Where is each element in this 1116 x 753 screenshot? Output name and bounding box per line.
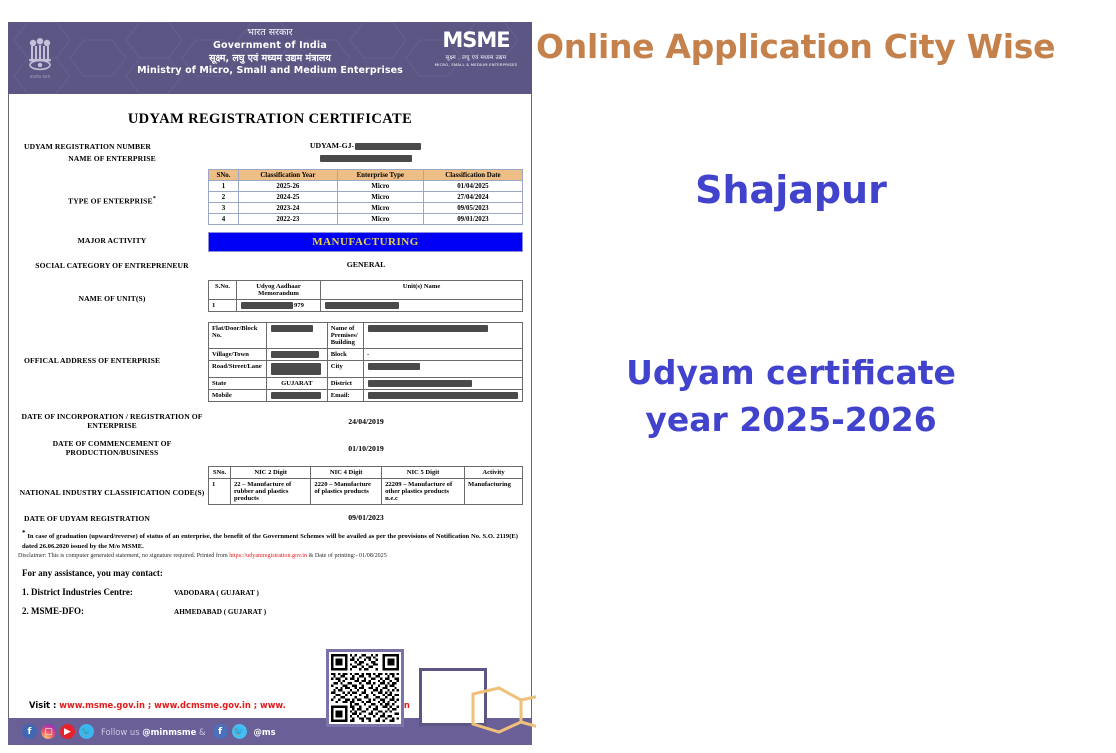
contact-dic: 1. District Industries Centre: VADODARA … — [16, 578, 524, 597]
cell-sno: 3 — [209, 203, 239, 214]
graduation-note: * In case of graduation (upward/reverse)… — [16, 525, 524, 551]
contact-value: AHMEDABAD ( GUJARAT ) — [174, 606, 266, 616]
cell-value — [266, 390, 327, 402]
msme-logo-english: MICRO, SMALL & MEDIUM ENTERPRISES — [428, 62, 524, 67]
udyam-number-label: UDYAM REGISTRATION NUMBER — [16, 141, 208, 151]
certificate-body: UDYAM REGISTRATION CERTIFICATE UDYAM REG… — [8, 94, 532, 745]
field-major-activity: MAJOR ACTIVITY MANUFACTURING — [16, 232, 524, 252]
th-nic2: NIC 2 Digit — [231, 467, 311, 479]
table-header-row: S.No. Udyog Aadhaar Memorandum Unit(s) N… — [209, 281, 523, 300]
instagram-icon[interactable]: ▢ — [41, 724, 56, 739]
cell-type: Micro — [337, 181, 423, 192]
date-incorporation-label: DATE OF INCORPORATION / REGISTRATION OF … — [16, 411, 208, 430]
field-social-category: SOCIAL CATEGORY OF ENTREPRENEUR GENERAL — [16, 260, 524, 270]
field-official-address: OFFICAL ADDRESS OF ENTERPRISE Flat/Door/… — [16, 322, 524, 402]
th-sno: S.No. — [209, 281, 237, 300]
cell-key: Road/Street/Lane — [209, 361, 267, 378]
cell-year: 2022-23 — [239, 214, 338, 225]
udyam-number-value: UDYAM-GJ- — [208, 141, 524, 150]
nic-table: SNo. NIC 2 Digit NIC 4 Digit NIC 5 Digit… — [208, 466, 523, 505]
table-row: Village/Town Block - — [209, 349, 523, 361]
date-incorporation-value: 24/04/2019 — [208, 411, 524, 426]
field-enterprise-name: NAME OF ENTERPRISE — [16, 153, 524, 163]
address-table: Flat/Door/Block No. Name of Premises/ Bu… — [208, 322, 523, 402]
city-name: Shajapur — [536, 168, 1046, 212]
disclaimer-line: Disclaimer: This is computer generated s… — [16, 551, 524, 559]
hexagon-outline-icon — [459, 680, 537, 740]
contact-value: VADODARA ( GUJARAT ) — [174, 587, 259, 597]
enterprise-type-table: SNo. Classification Year Enterprise Type… — [208, 169, 523, 225]
cell-date: 01/04/2025 — [423, 181, 522, 192]
table-row: Mobile Email: — [209, 390, 523, 402]
cell-value: - — [364, 349, 523, 361]
hexagon-decoration — [459, 680, 537, 740]
table-row: State GUJARAT District — [209, 378, 523, 390]
date-commencement-value: 01/10/2019 — [208, 438, 524, 453]
cell-key: District — [327, 378, 363, 390]
assistance-heading: For any assistance, you may contact: — [16, 559, 524, 578]
field-date-udyam-registration: DATE OF UDYAM REGISTRATION 09/01/2023 — [16, 513, 524, 523]
th-uam: Udyog Aadhaar Memorandum — [237, 281, 321, 300]
cell-value — [364, 378, 523, 390]
qr-code[interactable] — [326, 649, 404, 727]
qr-code-image — [331, 654, 399, 722]
cell-key: Mobile — [209, 390, 267, 402]
udyam-portal-link[interactable]: https://udyamregistration.gov.in — [229, 553, 307, 559]
cell-key: State — [209, 378, 267, 390]
ministry-english: Ministry of Micro, Small and Medium Ente… — [8, 65, 532, 78]
th-nic4: NIC 4 Digit — [311, 467, 382, 479]
cell-date: 09/01/2023 — [423, 214, 522, 225]
cell-date: 27/04/2024 — [423, 192, 522, 203]
table-row: 4 2022-23 Micro 09/01/2023 — [209, 214, 523, 225]
cell-type: Micro — [337, 214, 423, 225]
cell-activity: Manufacturing — [465, 479, 523, 505]
cell-key: City — [327, 361, 363, 378]
th-activity: Activity — [465, 467, 523, 479]
cell-year: 2023-24 — [239, 203, 338, 214]
cell-value: GUJARAT — [266, 378, 327, 390]
units-table: S.No. Udyog Aadhaar Memorandum Unit(s) N… — [208, 280, 523, 312]
cell-type: Micro — [337, 203, 423, 214]
facebook-icon[interactable]: f — [213, 724, 228, 739]
table-row: 3 2023-24 Micro 09/05/2023 — [209, 203, 523, 214]
udyam-certificate-document: सत्यमेव जयते भारत सरकार Government of In… — [8, 22, 532, 745]
twitter-icon[interactable]: 🐦 — [232, 724, 247, 739]
follow-us-text: Follow us @minmsme & — [101, 727, 206, 737]
certificate-title: UDYAM REGISTRATION CERTIFICATE — [16, 111, 524, 128]
twitter-icon[interactable]: 🐦 — [79, 724, 94, 739]
certificate-header-banner: सत्यमेव जयते भारत सरकार Government of In… — [8, 22, 532, 94]
table-header-row: SNo. Classification Year Enterprise Type… — [209, 170, 523, 181]
th-sno: SNo. — [209, 170, 239, 181]
social-category-value: GENERAL — [208, 260, 524, 269]
type-of-enterprise-label: TYPE OF ENTERPRISE* — [16, 169, 208, 206]
cell-year: 2024-25 — [239, 192, 338, 203]
cell-sno: 1 — [209, 181, 239, 192]
cell-nic2: 22 – Manufacture of rubber and plastics … — [231, 479, 311, 505]
facebook-icon[interactable]: f — [22, 724, 37, 739]
cell-key: Name of Premises/ Building — [327, 323, 363, 349]
cell-sno: 4 — [209, 214, 239, 225]
cell-sno: 1 — [209, 300, 237, 312]
cell-value — [266, 349, 327, 361]
contact-label: 1. District Industries Centre: — [22, 587, 174, 597]
field-udyam-number: UDYAM REGISTRATION NUMBER UDYAM-GJ- — [16, 141, 524, 151]
enterprise-name-value — [208, 153, 524, 162]
cell-sno: 1 — [209, 479, 231, 505]
nic-label: NATIONAL INDUSTRY CLASSIFICATION CODE(S) — [16, 466, 208, 497]
cell-key: Flat/Door/Block No. — [209, 323, 267, 349]
enterprise-name-label: NAME OF ENTERPRISE — [16, 153, 208, 163]
cell-nic5: 22209 – Manufacture of other plastics pr… — [382, 479, 465, 505]
table-row: Road/Street/Lane City — [209, 361, 523, 378]
cell-value — [266, 361, 327, 378]
cell-value — [364, 390, 523, 402]
date-udyam-registration-value: 09/01/2023 — [208, 513, 524, 522]
date-commencement-label: DATE OF COMMENCEMENT OF PRODUCTION/BUSIN… — [16, 438, 208, 457]
cell-unit-name — [321, 300, 523, 312]
cell-nic4: 2220 – Manufacture of plastics products — [311, 479, 382, 505]
cell-uam: 979 — [237, 300, 321, 312]
cell-date: 09/05/2023 — [423, 203, 522, 214]
table-row: 1 2025-26 Micro 01/04/2025 — [209, 181, 523, 192]
table-header-row: SNo. NIC 2 Digit NIC 4 Digit NIC 5 Digit… — [209, 467, 523, 479]
msme-logo: MSME सूक्ष्म , लघु एवं मध्यम उद्यम MICRO… — [428, 30, 524, 67]
th-nic5: NIC 5 Digit — [382, 467, 465, 479]
follow-handle-secondary: @ms — [254, 727, 276, 737]
cell-value — [364, 361, 523, 378]
cell-value — [266, 323, 327, 349]
cell-type: Micro — [337, 192, 423, 203]
table-row: 1 22 – Manufacture of rubber and plastic… — [209, 479, 523, 505]
cell-value — [364, 323, 523, 349]
cell-key: Village/Town — [209, 349, 267, 361]
right-info-panel: Online Application City Wise Shajapur Ud… — [536, 0, 1116, 753]
major-activity-value: MANUFACTURING — [208, 232, 523, 252]
caption-line-2: year 2025-2026 — [536, 397, 1046, 444]
th-classification-year: Classification Year — [239, 170, 338, 181]
visit-urls[interactable]: www.msme.gov.in ; www.dcmsme.gov.in ; ww… — [59, 700, 286, 710]
field-date-incorporation: DATE OF INCORPORATION / REGISTRATION OF … — [16, 411, 524, 430]
contact-label: 2. MSME-DFO: — [22, 606, 174, 616]
msme-logo-hindi: सूक्ष्म , लघु एवं मध्यम उद्यम — [428, 53, 524, 61]
redacted-bar — [355, 143, 421, 150]
youtube-icon[interactable]: ▶ — [60, 724, 75, 739]
table-row: Flat/Door/Block No. Name of Premises/ Bu… — [209, 323, 523, 349]
cell-sno: 2 — [209, 192, 239, 203]
table-row: 1 979 — [209, 300, 523, 312]
name-of-units-label: NAME OF UNIT(S) — [16, 280, 208, 303]
date-udyam-registration-label: DATE OF UDYAM REGISTRATION — [16, 513, 208, 523]
table-row: 2 2024-25 Micro 27/04/2024 — [209, 192, 523, 203]
redacted-bar — [320, 155, 412, 162]
certificate-year-caption: Udyam certificate year 2025-2026 — [536, 350, 1046, 444]
official-address-label: OFFICAL ADDRESS OF ENTERPRISE — [16, 322, 208, 365]
th-enterprise-type: Enterprise Type — [337, 170, 423, 181]
th-sno: SNo. — [209, 467, 231, 479]
th-unit-name: Unit(s) Name — [321, 281, 523, 300]
caption-line-1: Udyam certificate — [536, 350, 1046, 397]
page-title: Online Application City Wise — [536, 27, 1116, 66]
msme-logo-mark: MSME — [428, 30, 524, 51]
field-date-commencement: DATE OF COMMENCEMENT OF PRODUCTION/BUSIN… — [16, 438, 524, 457]
field-type-of-enterprise: TYPE OF ENTERPRISE* SNo. Classification … — [16, 169, 524, 225]
th-classification-date: Classification Date — [423, 170, 522, 181]
field-nic-codes: NATIONAL INDUSTRY CLASSIFICATION CODE(S)… — [16, 466, 524, 505]
cell-key: Block — [327, 349, 363, 361]
major-activity-label: MAJOR ACTIVITY — [16, 232, 208, 245]
contact-msme-dfo: 2. MSME-DFO: AHMEDABAD ( GUJARAT ) — [16, 597, 524, 616]
cell-year: 2025-26 — [239, 181, 338, 192]
social-category-label: SOCIAL CATEGORY OF ENTREPRENEUR — [16, 260, 208, 270]
field-name-of-units: NAME OF UNIT(S) S.No. Udyog Aadhaar Memo… — [16, 280, 524, 312]
cell-key: Email: — [327, 390, 363, 402]
